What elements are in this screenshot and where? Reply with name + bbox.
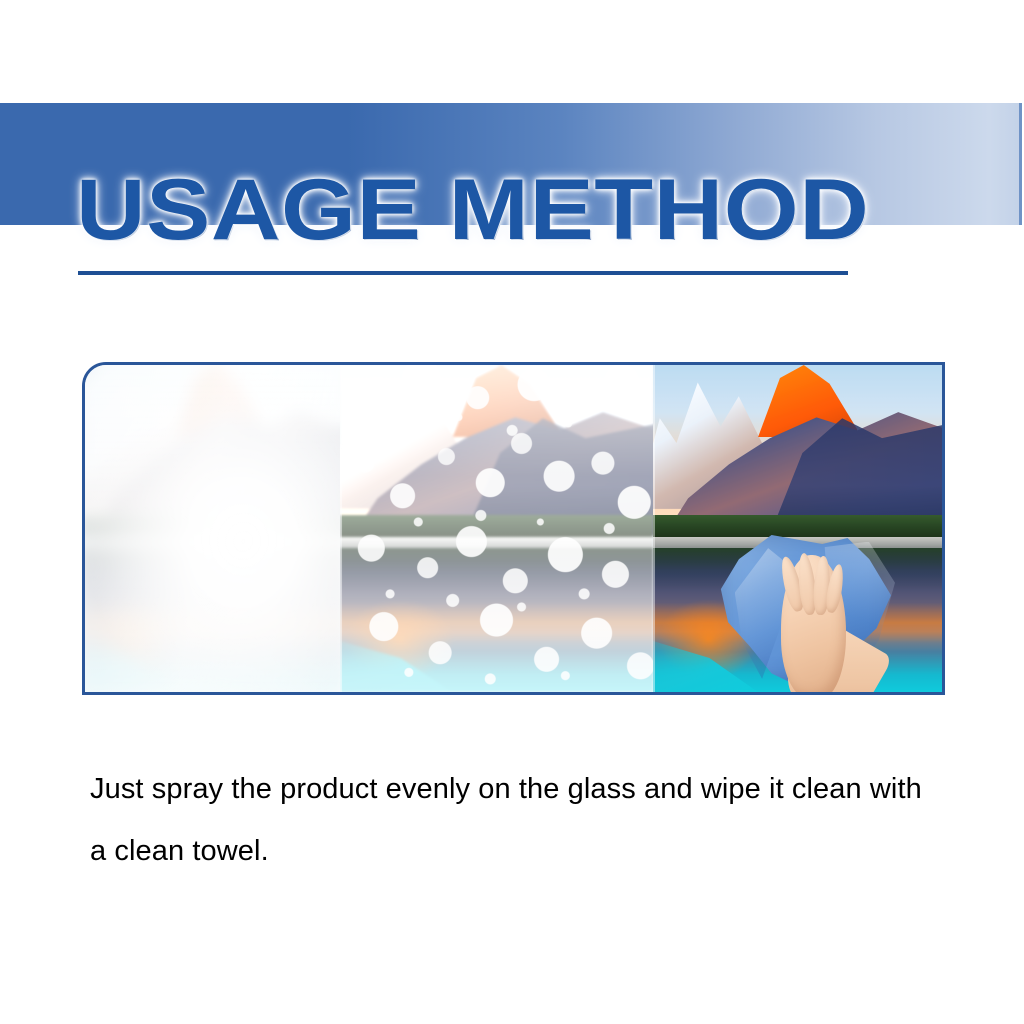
gallery-panel-foam-spray	[340, 365, 653, 692]
gallery-panel-wiped-clear	[653, 365, 945, 692]
usage-caption: Just spray the product evenly on the gla…	[90, 758, 940, 882]
title-underline	[78, 271, 848, 275]
dirty-glass-haze-overlay	[85, 365, 340, 692]
panel-divider	[653, 365, 655, 692]
page-title: USAGE METHOD	[76, 160, 1024, 260]
slide-canvas: USAGE METHOD	[0, 0, 1024, 1024]
panel-divider	[340, 365, 342, 692]
gallery-panel-hazy-glass	[85, 365, 340, 692]
usage-step-gallery	[82, 362, 945, 695]
treeline	[653, 515, 945, 538]
soap-bubbles-small	[340, 365, 653, 692]
